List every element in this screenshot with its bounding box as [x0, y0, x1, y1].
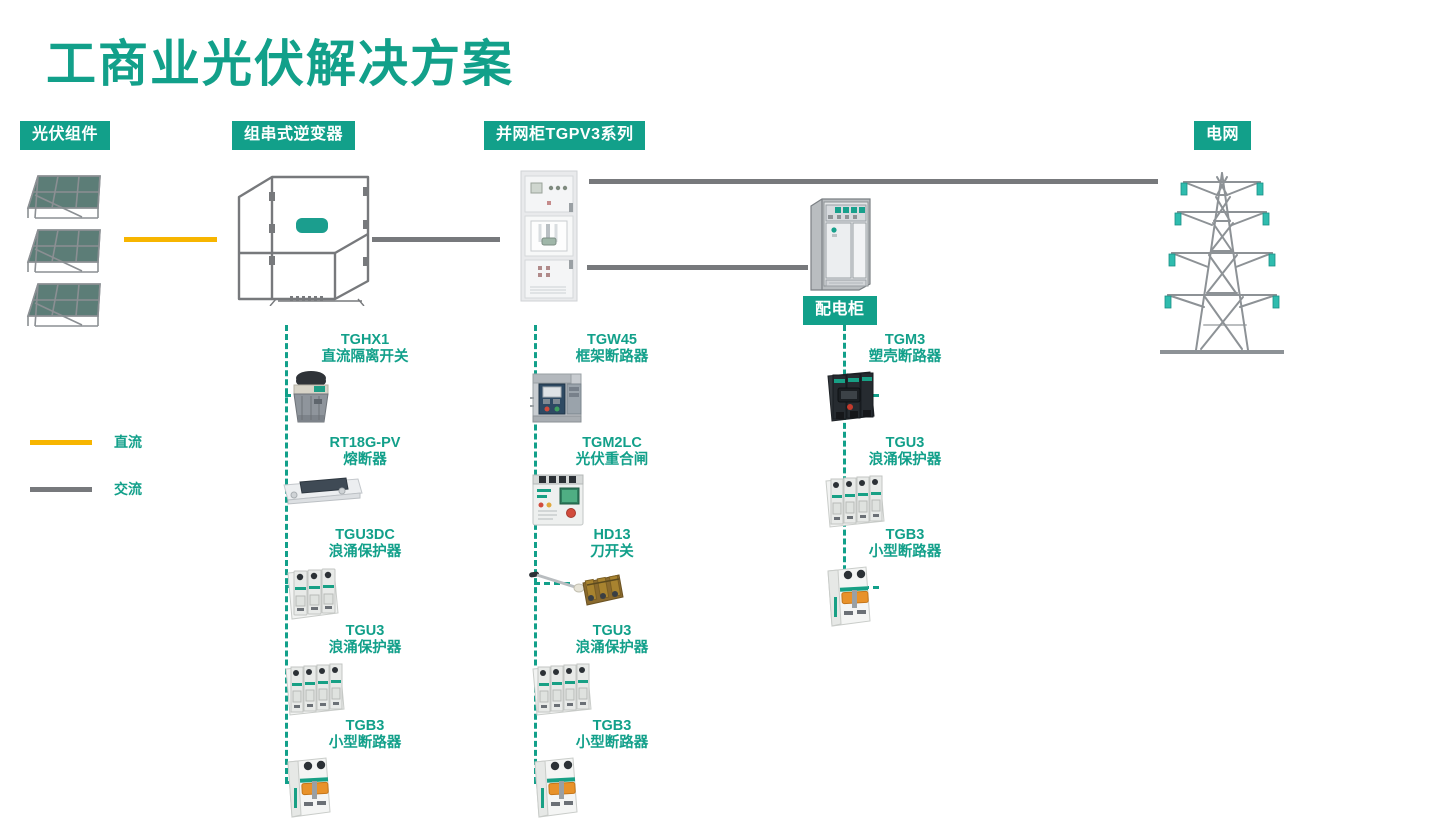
product-desc: 小型断路器	[280, 735, 450, 752]
product-item[interactable]: TGU3 浪涌保护器	[820, 435, 990, 533]
product-item[interactable]: HD13 刀开关	[527, 527, 697, 611]
product-model: TGU3DC	[280, 527, 450, 544]
product-model: TGHX1	[280, 332, 450, 349]
product-model: TGU3	[820, 435, 990, 452]
product-model: TGW45	[527, 332, 697, 349]
product-desc: 熔断器	[280, 452, 450, 469]
miniature-circuit-breaker-icon	[280, 754, 450, 820]
ac-legend-label: 交流	[114, 479, 142, 499]
pv-panel-array-2	[22, 222, 114, 278]
dc-legend-label: 直流	[114, 432, 142, 452]
product-model: TGU3	[527, 623, 697, 640]
pv-panel-array-1	[22, 168, 114, 224]
air-circuit-breaker-icon	[527, 368, 697, 426]
dc-connection-line	[124, 237, 217, 242]
product-item[interactable]: RT18G-PV 熔断器	[280, 435, 450, 507]
stage-badge-power-grid[interactable]: 电网	[1194, 121, 1251, 150]
legend-item-ac: 交流	[30, 479, 142, 499]
product-item[interactable]: TGHX1 直流隔离开关	[280, 332, 450, 430]
product-model: TGB3	[527, 718, 697, 735]
moulded-case-breaker-icon	[820, 368, 990, 426]
product-desc: 框架断路器	[527, 349, 697, 366]
product-item[interactable]: TGM2LC 光伏重合闸	[527, 435, 697, 529]
product-model: RT18G-PV	[280, 435, 450, 452]
product-item[interactable]: TGB3 小型断路器	[820, 527, 990, 629]
dc-isolator-switch-icon	[280, 368, 450, 430]
product-desc: 直流隔离开关	[280, 349, 450, 366]
ac-legend-swatch	[30, 487, 92, 492]
product-desc: 小型断路器	[527, 735, 697, 752]
stage-badge-grid-cabinet[interactable]: 并网柜TGPV3系列	[484, 121, 645, 150]
product-desc: 浪涌保护器	[820, 452, 990, 469]
product-model: TGU3	[280, 623, 450, 640]
fuse-holder-icon	[280, 471, 450, 507]
ac-connection-line-inverter	[372, 237, 500, 242]
product-item[interactable]: TGU3 浪涌保护器	[280, 623, 450, 721]
grid-cabinet-illustration	[520, 170, 578, 302]
product-model: HD13	[527, 527, 697, 544]
product-item[interactable]: TGU3DC 浪涌保护器	[280, 527, 450, 625]
legend-item-dc: 直流	[30, 432, 142, 452]
surge-protector-4p-icon	[820, 471, 990, 533]
product-desc: 浪涌保护器	[280, 640, 450, 657]
product-desc: 浪涌保护器	[280, 544, 450, 561]
page-title: 工商业光伏解决方案	[46, 24, 514, 96]
product-item[interactable]: TGW45 框架断路器	[527, 332, 697, 426]
product-model: TGB3	[820, 527, 990, 544]
stage-badge-distribution-cabinet[interactable]: 配电柜	[803, 296, 877, 325]
transmission-tower-illustration	[1160, 165, 1284, 355]
distribution-cabinet-illustration	[808, 196, 874, 292]
product-model: TGB3	[280, 718, 450, 735]
stage-badge-pv-modules[interactable]: 光伏组件	[20, 121, 110, 150]
product-item[interactable]: TGB3 小型断路器	[280, 718, 450, 820]
solution-diagram-canvas: 工商业光伏解决方案 光伏组件 组串式逆变器 并网柜TGPV3系列 配电柜 电网	[0, 0, 1436, 829]
product-desc: 光伏重合闸	[527, 452, 697, 469]
stage-badge-string-inverter[interactable]: 组串式逆变器	[232, 121, 355, 150]
miniature-circuit-breaker-icon	[820, 563, 990, 629]
miniature-circuit-breaker-icon	[527, 754, 697, 820]
dc-legend-swatch	[30, 440, 92, 445]
product-desc: 刀开关	[527, 544, 697, 561]
product-desc: 浪涌保护器	[527, 640, 697, 657]
string-inverter-illustration	[230, 168, 378, 306]
product-desc: 小型断路器	[820, 544, 990, 561]
product-item[interactable]: TGU3 浪涌保护器	[527, 623, 697, 721]
product-model: TGM3	[820, 332, 990, 349]
surge-protector-3p-icon	[280, 563, 450, 625]
pv-recloser-icon	[527, 471, 697, 529]
product-desc: 塑壳断路器	[820, 349, 990, 366]
surge-protector-4p-icon	[527, 659, 697, 721]
ac-connection-line-grid	[589, 179, 1158, 184]
ac-connection-line-distribution	[587, 265, 808, 270]
pv-panel-array-3	[22, 276, 114, 332]
knife-switch-icon	[527, 563, 697, 611]
product-item[interactable]: TGM3 塑壳断路器	[820, 332, 990, 426]
surge-protector-4p-icon	[280, 659, 450, 721]
product-model: TGM2LC	[527, 435, 697, 452]
product-item[interactable]: TGB3 小型断路器	[527, 718, 697, 820]
